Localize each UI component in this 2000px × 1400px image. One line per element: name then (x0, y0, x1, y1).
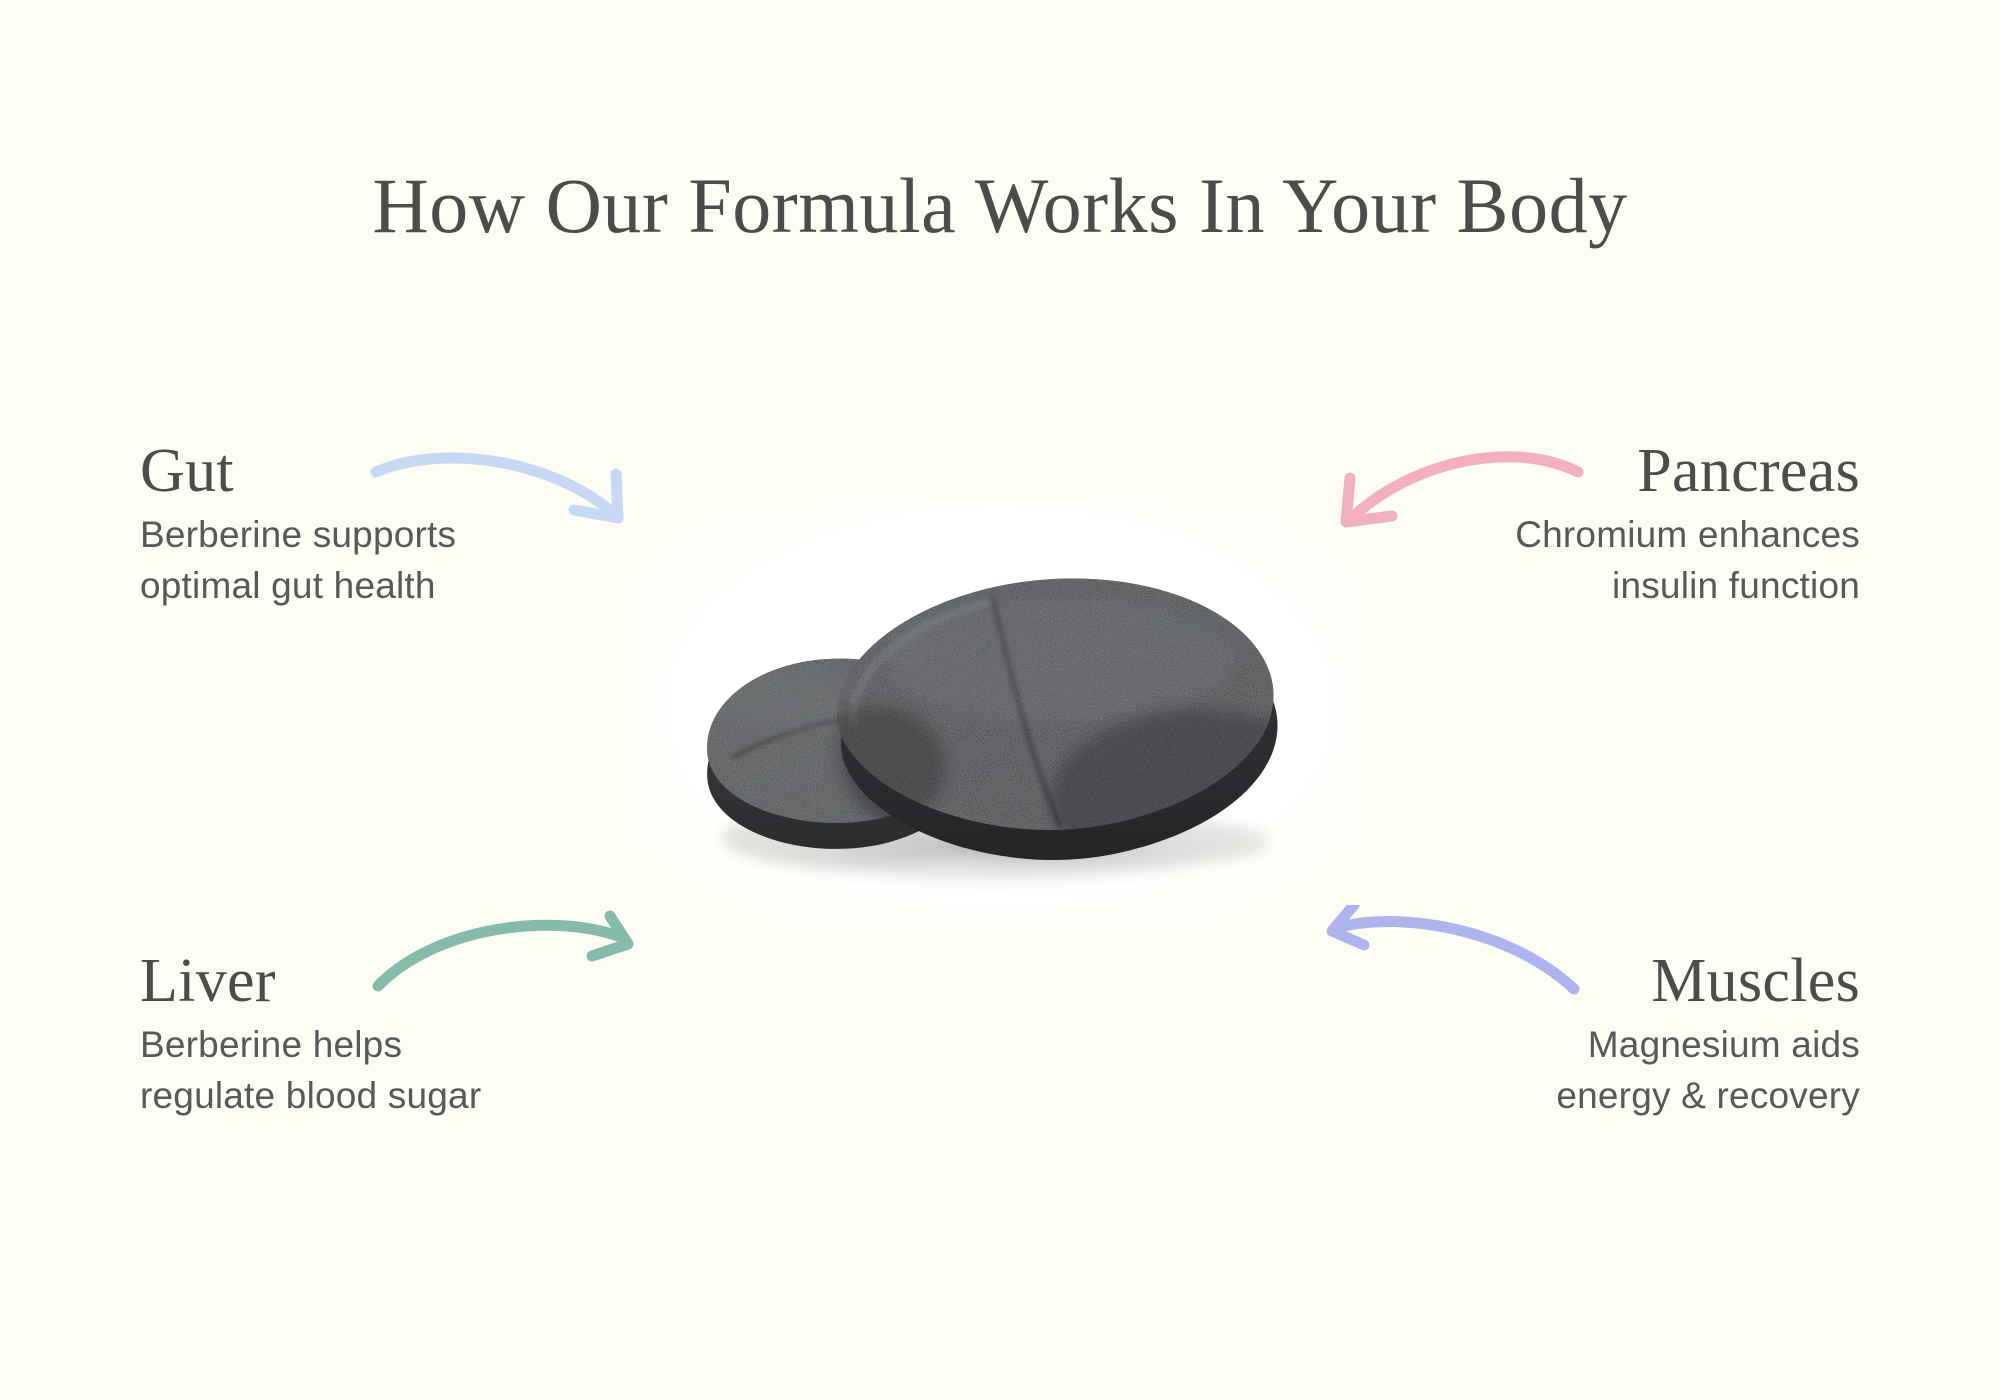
organ-description-line-2: energy & recovery (1556, 1075, 1860, 1116)
organ-description-line-2: regulate blood sugar (140, 1075, 481, 1116)
page-title: How Our Formula Works In Your Body (0, 167, 2000, 245)
infographic-canvas: How Our Formula Works In Your Body (0, 0, 2000, 1400)
tablet-illustration (640, 500, 1360, 930)
organ-description-line-1: Magnesium aids (1588, 1024, 1860, 1065)
organ-description-line-1: Berberine supports (140, 514, 456, 555)
organ-description-line-2: insulin function (1612, 565, 1860, 606)
organ-description-muscles: Magnesium aids energy & recovery (1390, 1019, 1860, 1121)
callout-gut: Gut Berberine supports optimal gut healt… (140, 440, 610, 611)
callout-muscles: Muscles Magnesium aids energy & recovery (1390, 950, 1860, 1121)
organ-description-gut: Berberine supports optimal gut health (140, 509, 610, 611)
organ-description-line-1: Berberine helps (140, 1024, 402, 1065)
organ-description-line-2: optimal gut health (140, 565, 436, 606)
organ-name-muscles: Muscles (1390, 950, 1860, 1013)
organ-description-liver: Berberine helps regulate blood sugar (140, 1019, 610, 1121)
callout-pancreas: Pancreas Chromium enhances insulin funct… (1390, 440, 1860, 611)
organ-name-pancreas: Pancreas (1390, 440, 1860, 503)
organ-description-pancreas: Chromium enhances insulin function (1390, 509, 1860, 611)
organ-name-liver: Liver (140, 950, 610, 1013)
callout-liver: Liver Berberine helps regulate blood sug… (140, 950, 610, 1121)
product-photo (640, 500, 1360, 930)
organ-name-gut: Gut (140, 440, 610, 503)
organ-description-line-1: Chromium enhances (1515, 514, 1860, 555)
